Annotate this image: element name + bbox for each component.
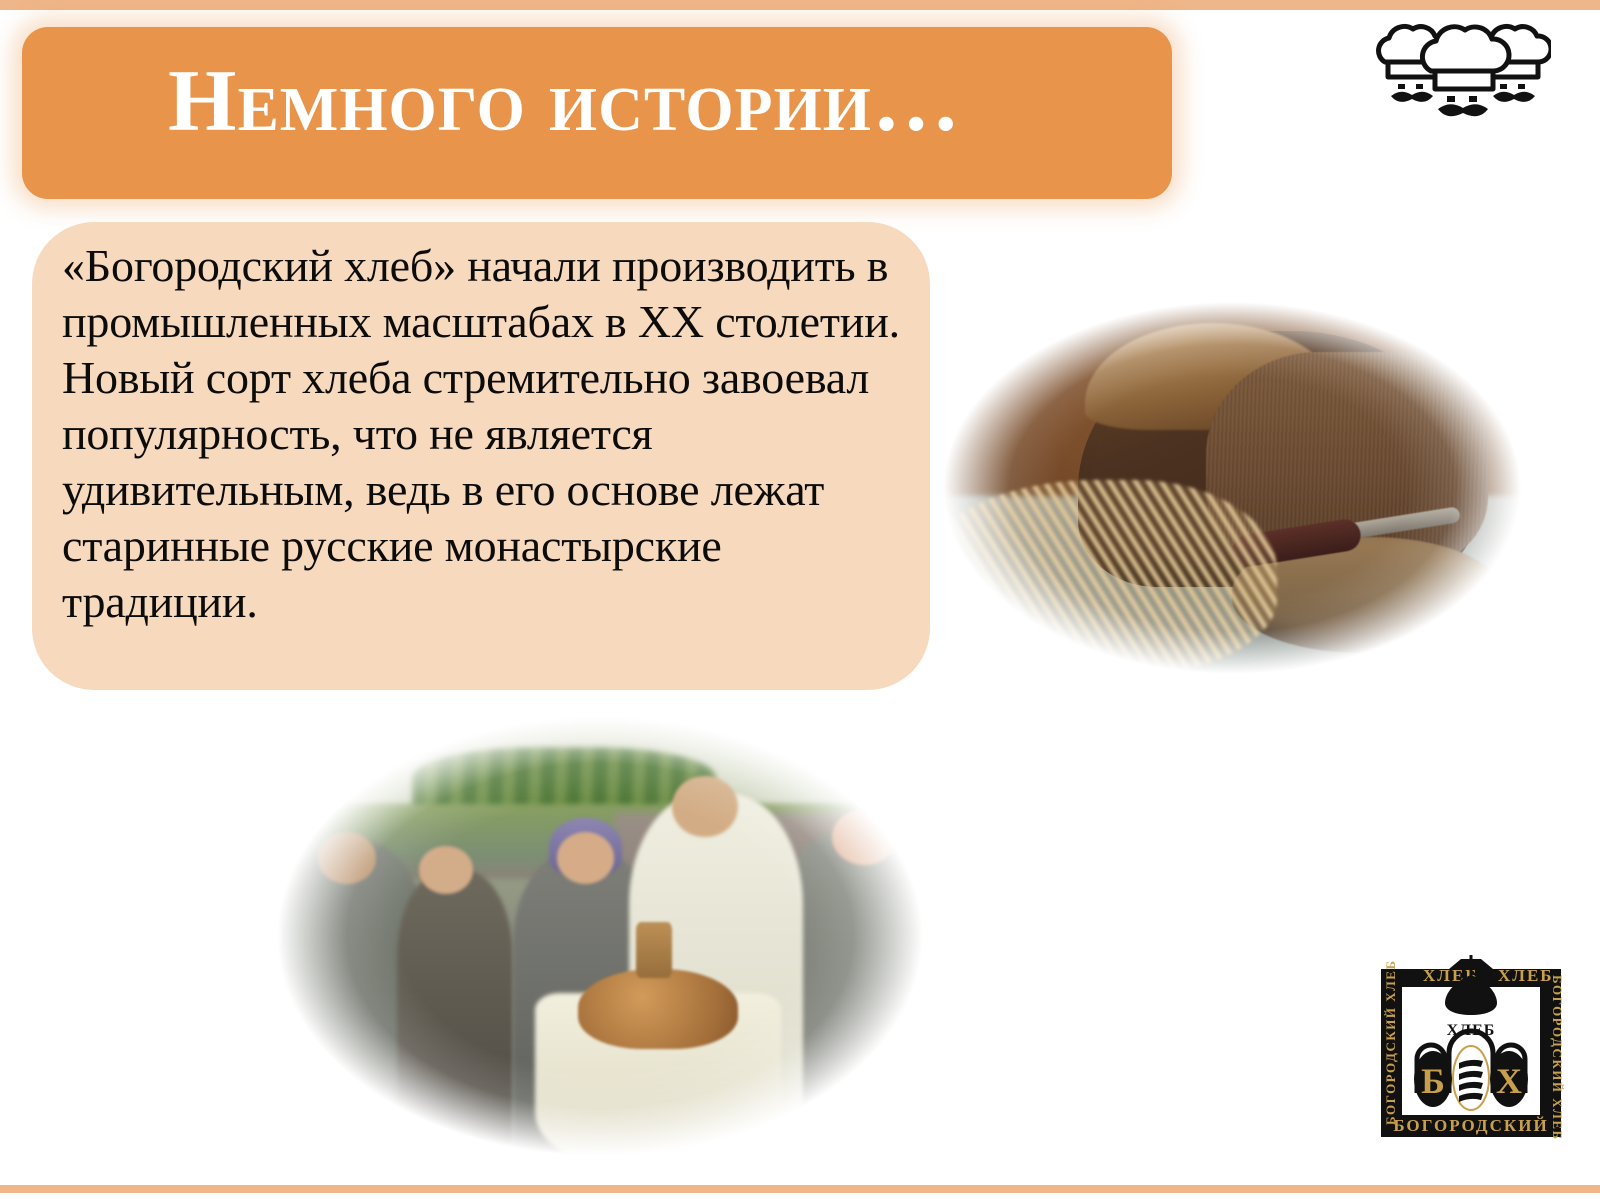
- slide-root: { "slide": { "title": "Немного истории…"…: [0, 0, 1600, 1200]
- rye-bread-photo: [912, 282, 1552, 694]
- logo-monogram-right: Х: [1496, 1061, 1522, 1101]
- bread-photo-inner: [912, 282, 1552, 694]
- painting-figure: [397, 870, 513, 1163]
- logo-text-top-right: ХЛЕБ: [1498, 966, 1554, 985]
- painting-head: [672, 776, 737, 837]
- logo-text-left: БОГОРОДСКИЙ ХЛЕБ: [1383, 959, 1398, 1125]
- logo-text-right: БОГОРОДСКИЙ ХЛЕБ: [1550, 975, 1565, 1141]
- painting-head: [318, 832, 376, 884]
- top-accent-band: [0, 0, 1600, 10]
- logo-monogram-left: Б: [1421, 1061, 1445, 1101]
- body-text: «Богородский хлеб» начали производить в …: [62, 238, 902, 630]
- chef-hats-icon: [1371, 22, 1551, 117]
- painting-round-loaf: [578, 969, 737, 1049]
- painting-head: [419, 846, 473, 893]
- peasants-bread-painting: [238, 700, 962, 1172]
- painting-head: [557, 832, 615, 884]
- painting-salt-cellar: [636, 922, 672, 979]
- page-title: Немного истории…: [168, 58, 1128, 146]
- bottom-accent-band: [0, 1185, 1600, 1193]
- painting-inner: [238, 700, 962, 1172]
- painting-head: [832, 809, 897, 866]
- bogorodsky-khleb-logo: ХЛЕБ ХЛЕБ БОГОРОДСКИЙ БОГОРОДСКИЙ ХЛЕБ Б…: [1371, 947, 1571, 1147]
- logo-text-bottom: БОГОРОДСКИЙ: [1393, 1116, 1548, 1135]
- wheat-ears: [918, 480, 1276, 678]
- logo-bread-icon: [1453, 1046, 1489, 1110]
